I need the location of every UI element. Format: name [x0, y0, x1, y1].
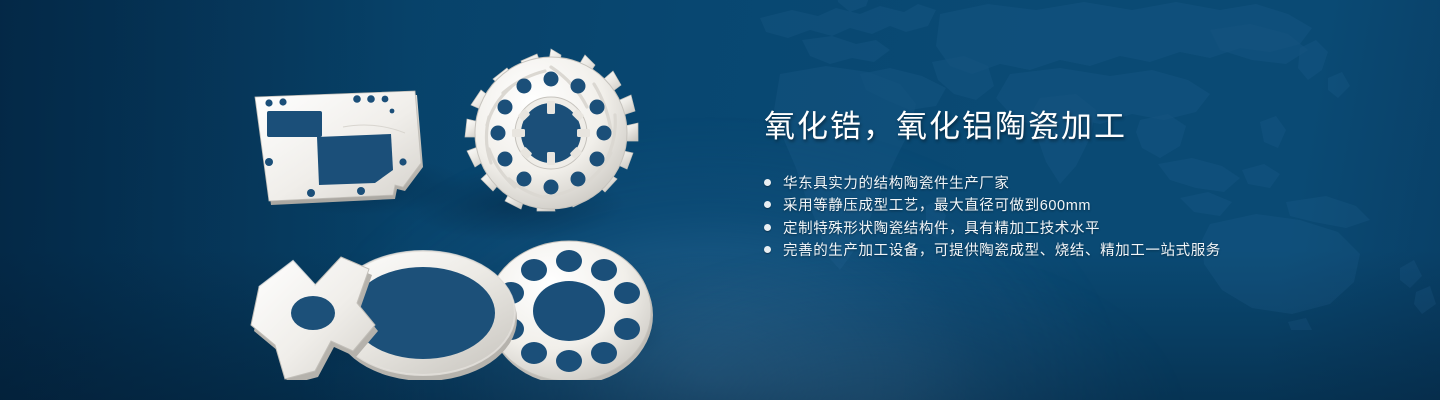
- list-item: 采用等静压成型工艺，最大直径可做到600mm: [764, 194, 1384, 216]
- bullet-dot-icon: [764, 246, 771, 253]
- bullet-dot-icon: [764, 224, 771, 231]
- feature-list: 华东具实力的结构陶瓷件生产厂家 采用等静压成型工艺，最大直径可做到600mm 定…: [764, 171, 1384, 261]
- ceramic-impeller-disc: [465, 49, 638, 211]
- feature-text: 采用等静压成型工艺，最大直径可做到600mm: [783, 194, 1091, 215]
- list-item: 完善的生产加工设备，可提供陶瓷成型、烧结、精加工一站式服务: [764, 239, 1384, 261]
- feature-text: 定制特殊形状陶瓷结构件，具有精加工技术水平: [783, 217, 1100, 238]
- feature-text: 完善的生产加工设备，可提供陶瓷成型、烧结、精加工一站式服务: [783, 239, 1221, 260]
- page-title: 氧化锆，氧化铝陶瓷加工: [764, 108, 1384, 145]
- list-item: 华东具实力的结构陶瓷件生产厂家: [764, 171, 1384, 193]
- feature-text: 华东具实力的结构陶瓷件生产厂家: [783, 172, 1010, 193]
- product-banner: 氧化锆，氧化铝陶瓷加工 华东具实力的结构陶瓷件生产厂家 采用等静压成型工艺，最大…: [0, 0, 1440, 400]
- bullet-dot-icon: [764, 201, 771, 208]
- rectangular-ceramic-plate: [255, 91, 423, 205]
- list-item: 定制特殊形状陶瓷结构件，具有精加工技术水平: [764, 216, 1384, 238]
- banner-copy: 氧化锆，氧化铝陶瓷加工 华东具实力的结构陶瓷件生产厂家 采用等静压成型工艺，最大…: [764, 108, 1384, 261]
- bullet-dot-icon: [764, 179, 771, 186]
- ceramic-parts-photo: [225, 35, 705, 380]
